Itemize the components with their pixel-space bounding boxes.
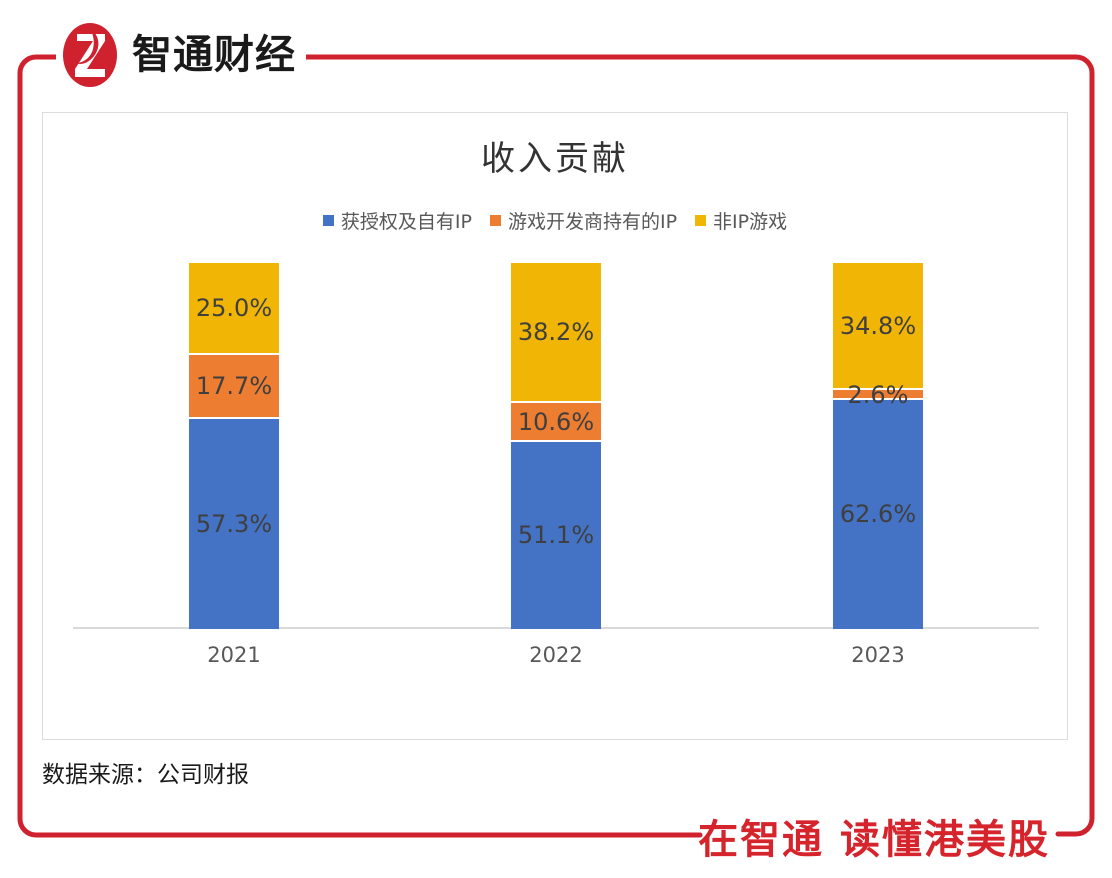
legend-label-non-ip-games: 非IP游戏 <box>713 207 787 234</box>
legend-item-developer-ip[interactable]: 游戏开发商持有的IP <box>490 207 677 234</box>
legend-item-licensed-own-ip[interactable]: 获授权及自有IP <box>323 207 472 234</box>
bar-segment-2021-non-ip-games[interactable]: 25.0% <box>189 263 279 355</box>
chart-title: 收入贡献 <box>43 131 1067 180</box>
x-axis-labels: 2021 2022 2023 <box>73 632 1039 678</box>
legend-label-licensed-own-ip: 获授权及自有IP <box>341 207 472 234</box>
chart-card: 收入贡献 获授权及自有IP 游戏开发商持有的IP 非IP游戏 <box>42 112 1068 740</box>
bar-label-2022-developer-ip: 10.6% <box>518 408 594 436</box>
bar-segment-2023-developer-ip[interactable]: 2.6% <box>833 390 923 400</box>
bar-column-2022: 38.2% 10.6% 51.1% <box>395 263 717 629</box>
brand-tagline: 在智通 读懂港美股 <box>698 807 1050 865</box>
bar-segment-2022-licensed-own-ip[interactable]: 51.1% <box>511 442 601 629</box>
brand-name: 智通财经 <box>132 35 296 75</box>
bar-segment-2021-developer-ip[interactable]: 17.7% <box>189 355 279 420</box>
stacked-bar-2021: 25.0% 17.7% 57.3% <box>189 263 279 629</box>
legend-item-non-ip-games[interactable]: 非IP游戏 <box>695 207 787 234</box>
bar-label-2021-developer-ip: 17.7% <box>196 372 272 400</box>
legend-swatch-orange <box>490 215 501 226</box>
bar-label-2023-licensed-own-ip: 62.6% <box>840 500 916 528</box>
data-source-note: 数据来源：公司财报 <box>42 755 249 789</box>
bar-column-2021: 25.0% 17.7% 57.3% <box>73 263 395 629</box>
legend-swatch-blue <box>323 215 334 226</box>
bar-segment-2023-licensed-own-ip[interactable]: 62.6% <box>833 400 923 629</box>
bar-label-2023-developer-ip: 2.6% <box>848 381 909 409</box>
x-axis-label-2022: 2022 <box>395 632 717 678</box>
stacked-bar-2023: 34.8% 2.6% 62.6% <box>833 263 923 629</box>
x-axis-label-2021: 2021 <box>73 632 395 678</box>
chart-legend: 获授权及自有IP 游戏开发商持有的IP 非IP游戏 <box>43 207 1067 234</box>
bar-label-2021-non-ip-games: 25.0% <box>196 294 272 322</box>
bar-label-2021-licensed-own-ip: 57.3% <box>196 510 272 538</box>
stacked-bar-2022: 38.2% 10.6% 51.1% <box>511 263 601 629</box>
x-axis-label-2023: 2023 <box>717 632 1039 678</box>
brand-header: 智通财经 <box>56 16 306 94</box>
bar-segment-2022-developer-ip[interactable]: 10.6% <box>511 403 601 442</box>
bar-segment-2022-non-ip-games[interactable]: 38.2% <box>511 263 601 403</box>
bar-column-2023: 34.8% 2.6% 62.6% <box>717 263 1039 629</box>
legend-swatch-yellow <box>695 215 706 226</box>
legend-label-developer-ip: 游戏开发商持有的IP <box>508 207 677 234</box>
bar-segment-2021-licensed-own-ip[interactable]: 57.3% <box>189 419 279 629</box>
bar-group-container: 25.0% 17.7% 57.3% 38.2% <box>73 263 1039 629</box>
bar-segment-2023-non-ip-games[interactable]: 34.8% <box>833 263 923 390</box>
bar-label-2022-non-ip-games: 38.2% <box>518 318 594 346</box>
bar-label-2022-licensed-own-ip: 51.1% <box>518 521 594 549</box>
bar-label-2023-non-ip-games: 34.8% <box>840 312 916 340</box>
chart-infographic-page: 智通财经 收入贡献 获授权及自有IP 游戏开发商持有的IP 非IP游戏 <box>0 0 1112 878</box>
zhitong-z-logo-icon <box>62 22 118 88</box>
chart-plot-area: 25.0% 17.7% 57.3% 38.2% <box>73 263 1039 678</box>
